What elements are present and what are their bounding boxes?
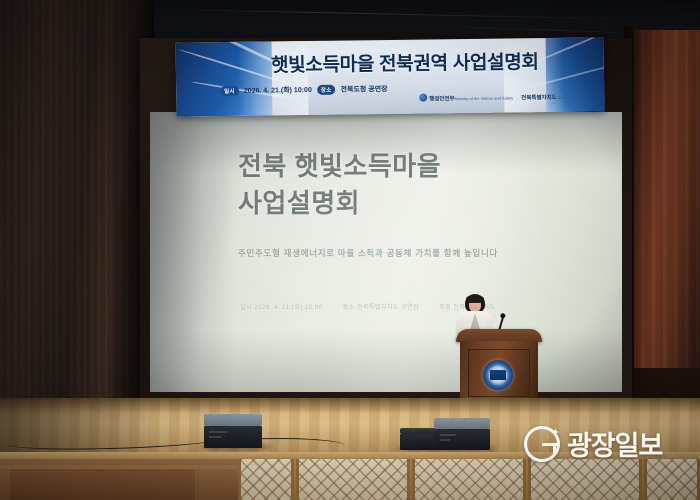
monitor-speaker-1-vent [209, 431, 227, 433]
stage-floor-left-shadow [0, 398, 150, 460]
stage-step [10, 466, 195, 500]
banner-datetime-label: 일시 [220, 86, 239, 96]
monitor-speaker-2-vent [440, 434, 456, 436]
monitor-speaker-1-face [204, 426, 262, 448]
monitor-speaker-1 [204, 414, 264, 448]
ministry-logo: 행정안전부Ministry of the Interior and Safety [419, 92, 513, 102]
slide-meta-place: 장소 전북특별자치도 공연장 [343, 302, 420, 311]
stage-lattice-panel [412, 459, 526, 500]
banner-title: 햇빛소득마을 전북권역 사업설명회 [240, 47, 570, 78]
event-banner: 햇빛소득마을 전북권역 사업설명회 일시 2026. 4. 21.(화) 10:… [176, 37, 605, 116]
ministry-logo-sublabel: Ministry of the Interior and Safety [455, 95, 514, 101]
stage-lattice-panel [296, 459, 410, 500]
slide-meta-row: 일시 2026. 4. 21.(화) 10:00 장소 전북특별자치도 공연장 … [240, 302, 580, 311]
watermark-text: 광장일보 [567, 424, 662, 463]
banner-datetime-value: 2026. 4. 21.(화) 10:00 [244, 85, 312, 96]
slide-title: 전북 햇빛소득마을 사업설명회 [238, 148, 588, 222]
province-logo: 전북특별자치도Jeonbuk State [521, 92, 582, 101]
stage-lattice-panel [528, 459, 642, 500]
monitor-speaker-1-top [204, 414, 262, 426]
stage-lattice-panel [644, 459, 700, 500]
slide-meta-datetime: 일시 2026. 4. 21.(화) 10:00 [240, 302, 323, 311]
photo-scene: 전북 햇빛소득마을 사업설명회 주민주도형 재생에너지로 마을 소득과 공동체 … [0, 0, 700, 500]
watermark: ✦ 광장일보 [524, 424, 662, 463]
watermark-logo-icon: ✦ [524, 426, 560, 462]
monitor-speaker-3 [400, 428, 438, 450]
slide-subtitle: 주민주도형 재생에너지로 마을 소득과 공동체 가치를 함께 높입니다 [238, 247, 568, 259]
province-logo-label: 전북특별자치도 [521, 94, 556, 100]
province-logo-sublabel: Jeonbuk State [557, 94, 583, 99]
monitor-speaker-2-top [434, 418, 490, 429]
government-emblem-icon [419, 94, 427, 102]
monitor-speaker-2-vent-2 [440, 439, 450, 441]
ministry-logo-label: 행정안전부 [429, 96, 454, 102]
stage-lattice-panel [238, 459, 294, 500]
monitor-speaker-2 [434, 418, 492, 450]
banner-place-value: 전북도청 공연장 [340, 84, 387, 95]
monitor-speaker-1-vent-2 [209, 436, 221, 438]
monitor-speaker-3-face [400, 434, 436, 450]
banner-place-label: 장소 [317, 85, 336, 95]
monitor-speaker-2-face [434, 429, 490, 450]
watermark-sparkle-icon: ✦ [551, 428, 560, 439]
podium-emblem-icon [483, 360, 513, 390]
speaker-hair-front [466, 295, 484, 303]
